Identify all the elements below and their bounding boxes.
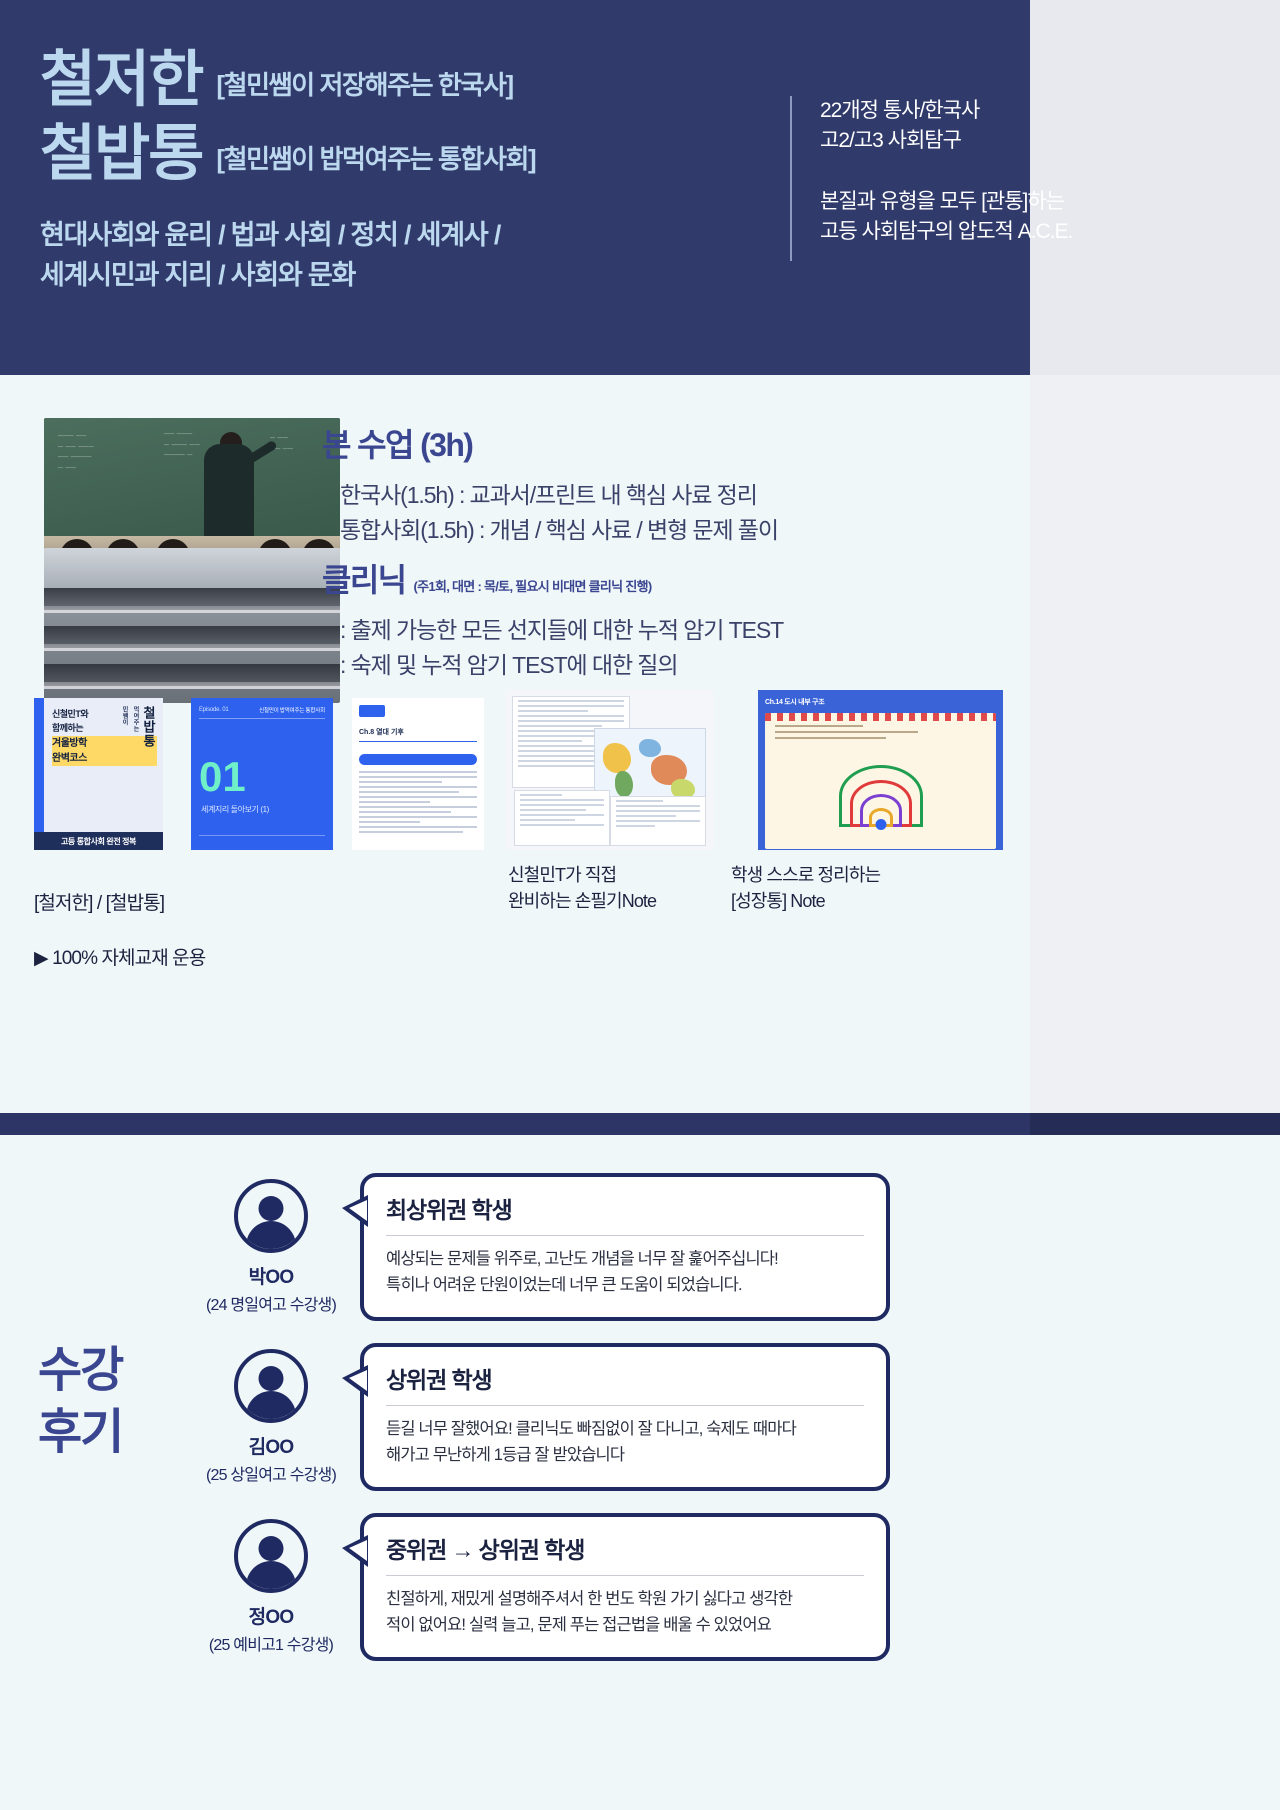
book-vertical-big: 철밥통 (142, 706, 155, 748)
reviewer-identity: 정OO (25 예비고1 수강생) (196, 1513, 346, 1655)
review-bubble: 최상위권 학생 예상되는 문제들 위주로, 고난도 개념을 너무 잘 훑어주십니… (360, 1173, 890, 1321)
classroom-back-wall (44, 548, 340, 588)
slide-inner: Episode. 01 신철민이 밥먹여주는 통합사회 01 세계지리 돌아보기… (191, 698, 333, 850)
note-sheet-c (514, 790, 610, 846)
reviewer-meta: (25 예비고1 수강생) (196, 1631, 346, 1655)
materials-caption-1-line-2: ▶ 100% 자체교재 운용 (34, 945, 205, 973)
book-front: 신철민T와 함께하는 겨울방학 완벽코스 민쌤이 먹여주는 철밥통 (44, 698, 163, 850)
header-banner: 철저한 [철민쌤이 저장해주는 한국사] 철밥통 [철민쌤이 밥먹여주는 통합사… (0, 0, 1030, 375)
main-class-heading: 본 수업 (3h) (322, 420, 778, 466)
handwritten-note-collage-thumbnail (506, 690, 714, 850)
worksheet-title: Ch.8 열대 기후 (359, 727, 477, 737)
brand-title-1: 철저한 (40, 48, 202, 110)
avatar-body (246, 1391, 296, 1423)
reviews-section-title: 수강 후기 (38, 1340, 122, 1465)
avatar-body (246, 1221, 296, 1253)
materials-thumbnail-row: 신철민T와 함께하는 겨울방학 완벽코스 민쌤이 먹여주는 철밥통 고등 통합사… (34, 690, 994, 850)
reviewer-name: 정OO (196, 1602, 346, 1629)
review-bubble: 중위권 → 상위권 학생 친절하게, 재밌게 설명해주셔서 한 번도 학원 가기… (360, 1513, 890, 1661)
section-divider-bar-right (1030, 1113, 1280, 1135)
avatar-head (259, 1196, 284, 1221)
chalk-writing-mid: ── ──── ─── ────── ─ (164, 430, 200, 462)
reviews-title-line-2: 후기 (38, 1402, 122, 1464)
student-row (44, 626, 340, 648)
clinic-title: 클리닉 (322, 555, 406, 601)
subject-list: 현대사회와 윤리 / 법과 사회 / 정치 / 세계사 / 세계시민과 지리 /… (40, 216, 535, 294)
avatar-person-icon (234, 1179, 308, 1253)
reviews-section: 수강 후기 박OO (24 명일여고 수강생) 최상위권 학생 예상되는 문제들… (0, 1135, 1030, 1810)
header-info-gap (820, 157, 1072, 187)
header-info-line-4: 고등 사회탐구의 압도적 A.C.E. (820, 217, 1072, 247)
slide-rule (199, 718, 325, 719)
brand-title-row-2: 철밥통 [철민쌤이 밥먹여주는 통합사회] (40, 122, 535, 184)
student-note-paper (765, 713, 996, 849)
reviews-title-line-1: 수강 (38, 1340, 122, 1402)
review-bubble-wrap: 최상위권 학생 예상되는 문제들 위주로, 고난도 개념을 너무 잘 훑어주십니… (360, 1173, 890, 1321)
note-sheet-d (610, 796, 706, 846)
review-text: 친절하게, 재밌게 설명해주셔서 한 번도 학원 가기 싫다고 생각한 적이 없… (386, 1586, 864, 1639)
book-vertical-small-1: 민쌤이 (120, 706, 129, 748)
header-info-block: 22개정 통사/한국사 고2/고3 사회탐구 본질과 유형을 모두 [관통]하는… (790, 96, 1072, 261)
review-title: 상위권 학생 (386, 1361, 864, 1395)
review-divider (386, 1405, 864, 1406)
avatar-person-icon (234, 1349, 308, 1423)
review-title: 중위권 → 상위권 학생 (386, 1531, 864, 1565)
cbd-center-dot (875, 819, 886, 830)
poster-page: 철저한 [철민쌤이 저장해주는 한국사] 철밥통 [철민쌤이 밥먹여주는 통합사… (0, 0, 1280, 1810)
slide-episode-label: Episode. 01 (199, 707, 229, 713)
review-bubble: 상위권 학생 듣길 너무 잘했어요! 클리닉도 빠짐없이 잘 다니고, 숙제도 … (360, 1343, 890, 1491)
speech-bubble-tail-icon (342, 1195, 368, 1227)
student-row (44, 588, 340, 610)
review-title: 최상위권 학생 (386, 1191, 864, 1225)
clinic-line-2: : 숙제 및 누적 암기 TEST에 대한 질의 (340, 648, 783, 683)
review-text: 듣길 너무 잘했어요! 클리닉도 빠짐없이 잘 다니고, 숙제도 때마다 해가고… (386, 1416, 864, 1469)
header-info-line-2: 고2/고3 사회탐구 (820, 126, 1072, 156)
reviewer-meta: (25 상일여고 수강생) (196, 1461, 346, 1485)
reviewer-identity: 김OO (25 상일여고 수강생) (196, 1343, 346, 1485)
materials-caption-1-line-1: [철저한] / [철밥통] (34, 890, 205, 918)
clinic-line-1: : 출제 가능한 모든 선지들에 대한 누적 암기 TEST (340, 613, 783, 648)
clinic-section: 클리닉 (주1회, 대면 : 목/토, 필요시 비대면 클리닉 진행) : 출제… (322, 555, 783, 682)
book-vertical-title: 민쌤이 먹여주는 철밥통 (120, 706, 155, 748)
review-item: 정OO (25 예비고1 수강생) 중위권 → 상위권 학생 친절하게, 재밌게… (196, 1513, 890, 1661)
reviewer-name: 박OO (196, 1262, 346, 1289)
materials-caption-3: 학생 스스로 정리하는 [성장통] Note (731, 862, 880, 914)
student-note-inner: Ch.14 도시 내부 구조 (758, 690, 1003, 850)
slide-brand-tag: 신철민이 밥먹여주는 통합사회 (259, 706, 325, 714)
reviewer-identity: 박OO (24 명일여고 수강생) (196, 1173, 346, 1315)
avatar-head (259, 1536, 284, 1561)
header-title-block: 철저한 [철민쌤이 저장해주는 한국사] 철밥통 [철민쌤이 밥먹여주는 통합사… (40, 48, 535, 295)
review-divider (386, 1235, 864, 1236)
brand-subtitle-1: [철민쌤이 저장해주는 한국사] (216, 65, 512, 110)
speech-bubble-tail-icon (342, 1365, 368, 1397)
review-text: 예상되는 문제들 위주로, 고난도 개념을 너무 잘 훑어주십니다! 특히나 어… (386, 1246, 864, 1299)
worksheet-section-pill (359, 754, 477, 765)
header-info-line-3: 본질과 유형을 모두 [관통]하는 (820, 187, 1072, 217)
avatar-head (259, 1366, 284, 1391)
book-spine (34, 698, 44, 850)
materials-caption-1: [철저한] / [철밥통] ▶ 100% 자체교재 운용 (34, 862, 205, 1000)
main-content-section: ─── ─── ── ───── ───── ── ── ──── ─── ──… (0, 375, 1030, 1113)
avatar-person-icon (234, 1519, 308, 1593)
worksheet-badge (359, 705, 385, 717)
chalk-writing-left: ─── ─── ── ───── ───── ── (58, 432, 94, 474)
worksheet-inner: Ch.8 열대 기후 (352, 698, 484, 850)
worksheet-thumbnail: Ch.8 열대 기후 (352, 698, 484, 850)
review-bubble-wrap: 중위권 → 상위권 학생 친절하게, 재밌게 설명해주셔서 한 번도 학원 가기… (360, 1513, 890, 1661)
avatar-body (246, 1561, 296, 1593)
book-vertical-small-2: 먹여주는 (131, 706, 140, 748)
student-row (44, 664, 340, 686)
brand-title-row-1: 철저한 [철민쌤이 저장해주는 한국사] (40, 48, 535, 110)
subject-line-2: 세계시민과 지리 / 사회와 문화 (40, 256, 535, 295)
textbook-cover-inner: 신철민T와 함께하는 겨울방학 완벽코스 민쌤이 먹여주는 철밥통 고등 통합사… (34, 698, 163, 850)
note-scallop-border (765, 713, 996, 721)
map-landmass (615, 771, 633, 797)
reviewer-meta: (24 명일여고 수강생) (196, 1291, 346, 1315)
lecture-slide-thumbnail: Episode. 01 신철민이 밥먹여주는 통합사회 01 세계지리 돌아보기… (191, 698, 333, 850)
review-bubble-wrap: 상위권 학생 듣길 너무 잘했어요! 클리닉도 빠짐없이 잘 다니고, 숙제도 … (360, 1343, 890, 1491)
main-class-section: 본 수업 (3h) 한국사(1.5h) : 교과서/프린트 내 핵심 사료 정리… (322, 420, 778, 547)
map-landmass (639, 739, 661, 757)
textbook-cover-thumbnail: 신철민T와 함께하는 겨울방학 완벽코스 민쌤이 먹여주는 철밥통 고등 통합사… (34, 698, 163, 850)
clinic-classroom-photo (44, 548, 340, 703)
subject-line-1: 현대사회와 윤리 / 법과 사회 / 정치 / 세계사 / (40, 216, 535, 255)
student-note-header: Ch.14 도시 내부 구조 (765, 697, 996, 707)
brand-subtitle-2: [철민쌤이 밥먹여주는 통합사회] (216, 139, 535, 184)
brand-title-2: 철밥통 (40, 122, 202, 184)
book-footer-band: 고등 통합사회 완전 정복 (34, 832, 163, 850)
reviews-right-gutter (1030, 1135, 1280, 1810)
slide-subtitle: 세계지리 돌아보기 (1) (201, 804, 269, 815)
header-info-line-1: 22개정 통사/한국사 (820, 96, 1072, 126)
slide-bottom-rule (199, 835, 325, 836)
clinic-note: (주1회, 대면 : 목/토, 필요시 비대면 클리닉 진행) (414, 576, 652, 595)
review-divider (386, 1575, 864, 1576)
slide-top-row: Episode. 01 신철민이 밥먹여주는 통합사회 (199, 706, 325, 714)
main-class-lines: 한국사(1.5h) : 교과서/프린트 내 핵심 사료 정리 통합사회(1.5h… (340, 478, 778, 547)
speech-bubble-tail-icon (342, 1535, 368, 1567)
note-handwriting (765, 725, 996, 739)
slide-number: 01 (199, 756, 246, 798)
main-class-line-2: 통합사회(1.5h) : 개념 / 핵심 사료 / 변형 문제 풀이 (340, 513, 778, 548)
student-note-thumbnail: Ch.14 도시 내부 구조 (758, 690, 1003, 850)
main-class-title: 본 수업 (3h) (322, 420, 472, 466)
reviewer-name: 김OO (196, 1432, 346, 1459)
book-line-4: 완벽코스 (52, 751, 157, 766)
clinic-heading: 클리닉 (주1회, 대면 : 목/토, 필요시 비대면 클리닉 진행) (322, 555, 783, 601)
worksheet-rule (359, 741, 477, 742)
clinic-lines: : 출제 가능한 모든 선지들에 대한 누적 암기 TEST : 숙제 및 누적… (340, 613, 783, 682)
main-class-line-1: 한국사(1.5h) : 교과서/프린트 내 핵심 사료 정리 (340, 478, 778, 513)
concentric-zone-diagram (839, 765, 923, 827)
materials-caption-2: 신철민T가 직접 완비하는 손필기Note (508, 862, 656, 914)
section-divider-bar (0, 1113, 1030, 1135)
review-item: 김OO (25 상일여고 수강생) 상위권 학생 듣길 너무 잘했어요! 클리닉… (196, 1343, 890, 1491)
review-item: 박OO (24 명일여고 수강생) 최상위권 학생 예상되는 문제들 위주로, … (196, 1173, 890, 1321)
map-landmass (603, 743, 631, 773)
worksheet-body-lines (359, 771, 477, 833)
